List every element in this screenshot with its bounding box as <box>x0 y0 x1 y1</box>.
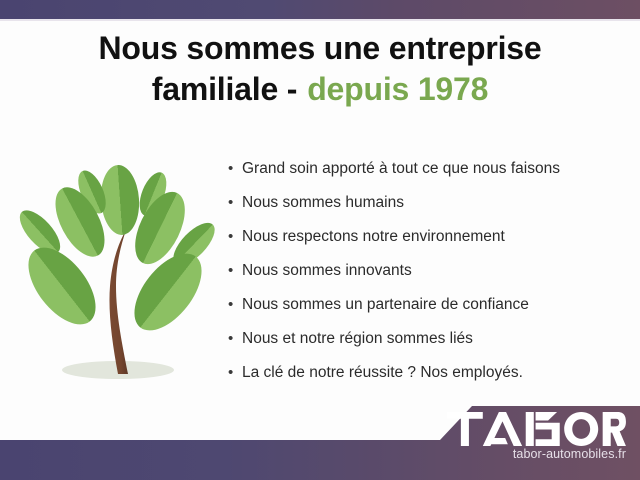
bullet-marker-icon: • <box>228 152 242 186</box>
list-item: • Grand soin apporté à tout ce que nous … <box>228 152 628 186</box>
list-item-label: Nous sommes humains <box>242 186 404 220</box>
title-line-1: Nous sommes une entreprise <box>0 28 640 69</box>
title-line-2-plain: familiale - <box>152 71 297 107</box>
title-line-2: familiale -depuis 1978 <box>0 69 640 110</box>
list-item-label: Nous sommes un partenaire de confiance <box>242 288 529 322</box>
bullet-marker-icon: • <box>228 322 242 356</box>
list-item: • Nous sommes un partenaire de confiance <box>228 288 628 322</box>
tree-leaf <box>121 242 214 342</box>
top-bar-hairline <box>0 19 640 21</box>
list-item-label: Nous et notre région sommes liés <box>242 322 473 356</box>
bullet-marker-icon: • <box>228 254 242 288</box>
list-item-label: Nous respectons notre environnement <box>242 220 505 254</box>
list-item-label: Grand soin apporté à tout ce que nous fa… <box>242 152 560 186</box>
tabor-wordmark-icon <box>447 412 626 446</box>
page-title: Nous sommes une entreprise familiale -de… <box>0 28 640 110</box>
slide-canvas: Nous sommes une entreprise familiale -de… <box>0 0 640 480</box>
list-item: • Nous sommes innovants <box>228 254 628 288</box>
brand-logo: tabor-automobiles.fr <box>447 412 626 461</box>
benefits-list: • Grand soin apporté à tout ce que nous … <box>228 152 628 390</box>
top-accent-bar <box>0 0 640 19</box>
title-line-2-accent: depuis 1978 <box>307 71 488 107</box>
tree-icon <box>14 152 219 392</box>
list-item-label: Nous sommes innovants <box>242 254 412 288</box>
bullet-marker-icon: • <box>228 356 242 390</box>
bullet-marker-icon: • <box>228 186 242 220</box>
tree-illustration <box>14 152 219 392</box>
list-item: • Nous respectons notre environnement <box>228 220 628 254</box>
list-item: • La clé de notre réussite ? Nos employé… <box>228 356 628 390</box>
tree-trunk <box>109 230 128 374</box>
list-item: • Nous et notre région sommes liés <box>228 322 628 356</box>
list-item: • Nous sommes humains <box>228 186 628 220</box>
bullet-marker-icon: • <box>228 288 242 322</box>
bullet-marker-icon: • <box>228 220 242 254</box>
logo-tagline: tabor-automobiles.fr <box>447 447 626 461</box>
list-item-label: La clé de notre réussite ? Nos employés. <box>242 356 523 390</box>
footer-bar: tabor-automobiles.fr <box>0 406 640 480</box>
